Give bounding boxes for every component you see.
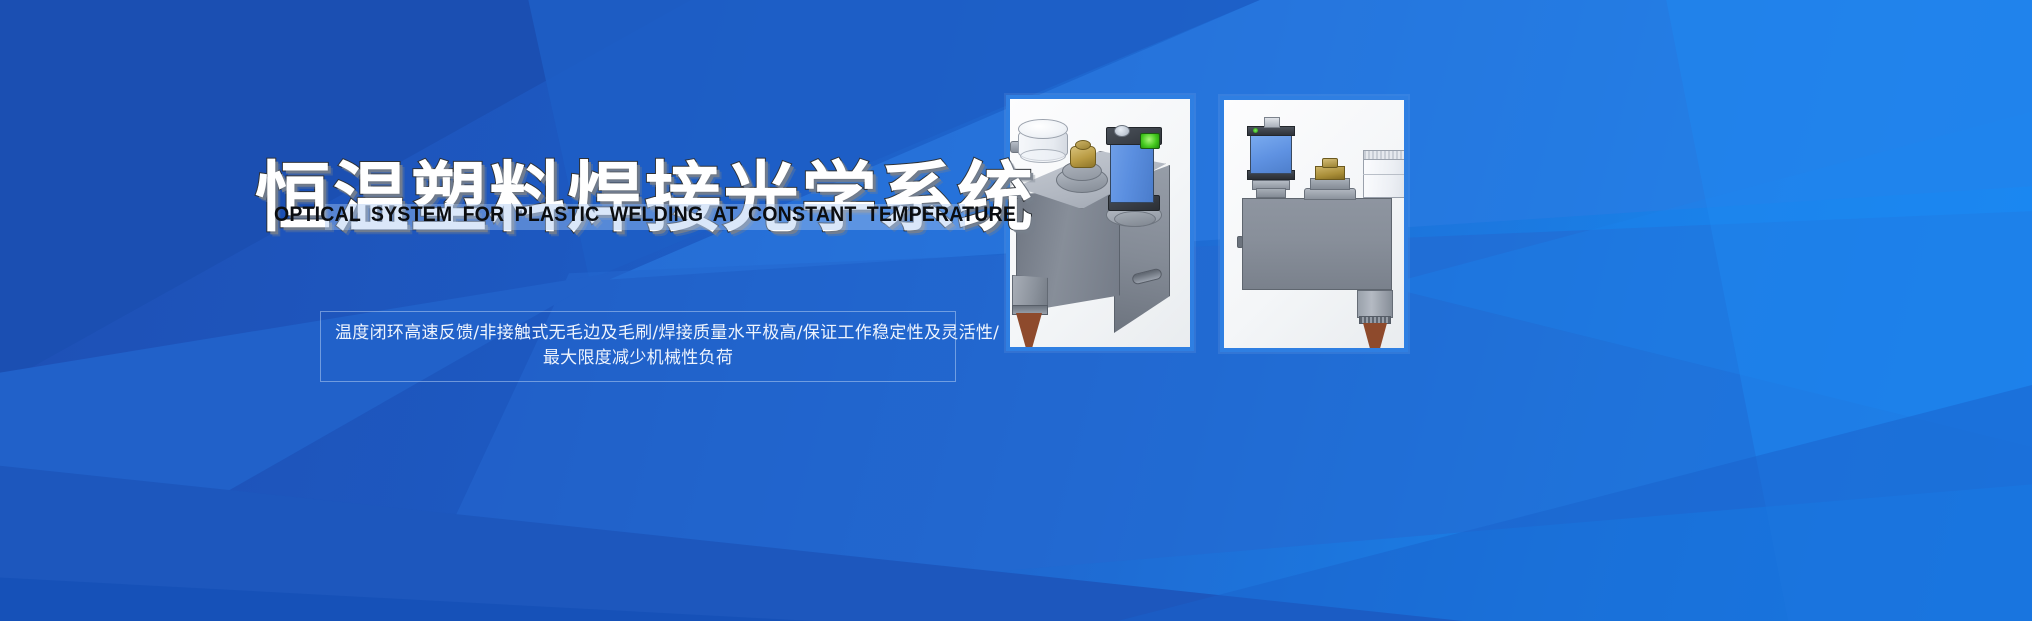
sensor-lens [1114,125,1130,137]
subtitle-line-1: 温度闭环高速反馈/非接触式无毛边及毛刷/焊接质量水平极高/保证工作稳定性及灵活性… [335,321,941,346]
subtitle-line-2: 最大限度减少机械性负荷 [335,346,941,371]
subtitle-box: 温度闭环高速反馈/非接触式无毛边及毛刷/焊接质量水平极高/保证工作稳定性及灵活性… [320,311,956,382]
green-indicator-window [1140,133,1160,149]
cylinder-top-lid [1018,119,1068,139]
green-indicator-led [1253,128,1258,133]
cylinder-top-lid [1363,150,1408,160]
page-title-english: OPTICAL SYSTEM FOR PLASTIC WELDING AT CO… [45,203,1245,227]
white-cylinder-reservoir [1363,156,1408,198]
copper-nozzle-cone [1016,313,1042,351]
nozzle-barrel [1357,290,1393,318]
title-group: 恒温塑料焊接光学系统 OPTICAL SYSTEM FOR PLASTIC WE… [0,160,1290,236]
cylinder-seam-line [1363,174,1408,175]
brass-actuator-cap [1322,158,1338,168]
brass-actuator-cap [1075,140,1091,150]
sensor-connector-stub [1264,117,1280,128]
copper-nozzle-cone [1363,323,1387,352]
product-banner: 恒温塑料焊接光学系统 OPTICAL SYSTEM FOR PLASTIC WE… [0,0,2032,621]
brass-actuator-hub [1315,166,1345,180]
housing-side-fitting [1237,236,1243,248]
